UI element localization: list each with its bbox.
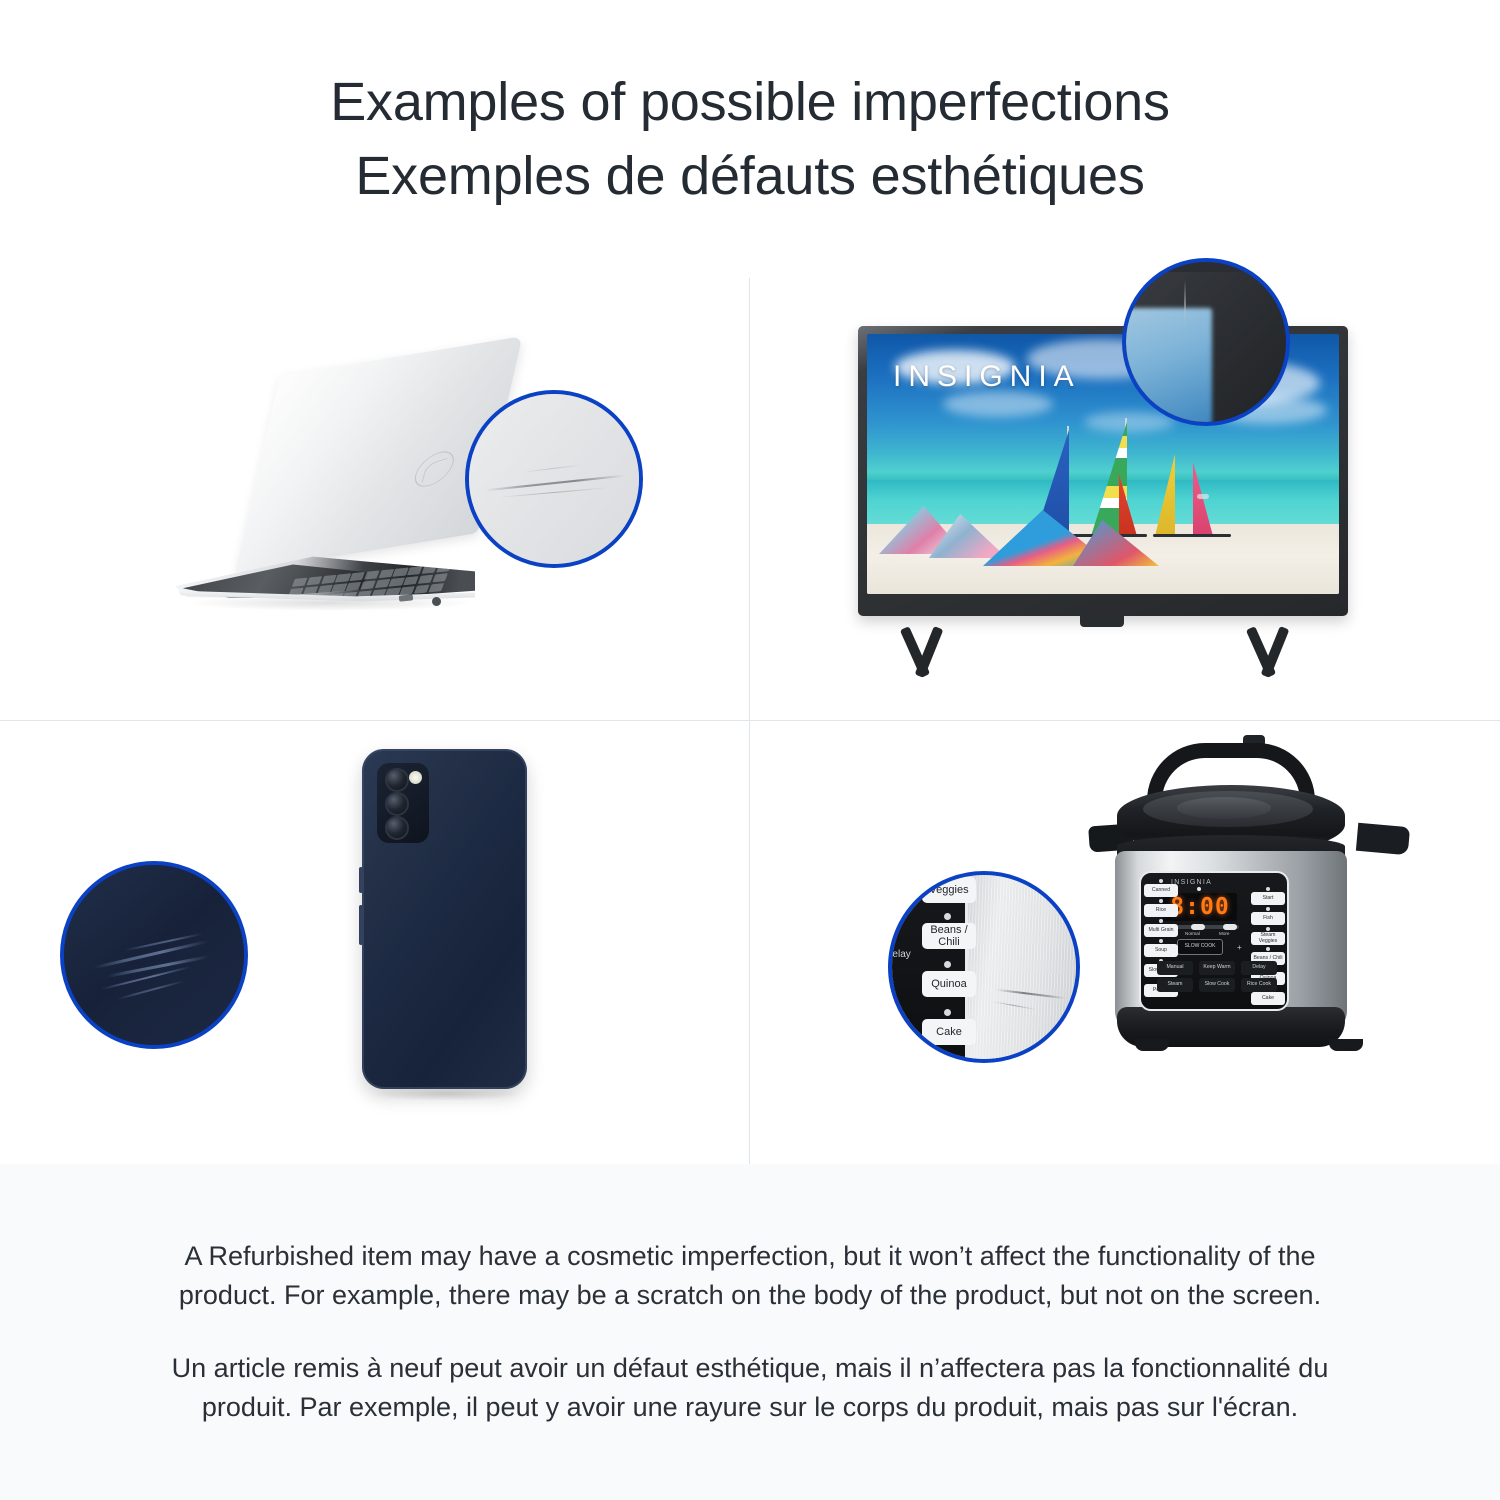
magnifier-laptop-surface <box>465 390 643 568</box>
cooker-button[interactable]: Rice Cook <box>1241 978 1277 992</box>
footer-paragraph-english: A Refurbished item may have a cosmetic i… <box>170 1237 1330 1315</box>
cooker-display-value: 8:00 <box>1170 894 1229 920</box>
key-cap <box>346 582 362 592</box>
tv-brand-logo: INSIGNIA <box>893 360 1081 394</box>
key-cap <box>364 570 380 580</box>
distant-boat <box>1197 494 1209 499</box>
phone-volume-button <box>359 867 363 893</box>
button-led <box>1159 919 1163 923</box>
button-led <box>944 913 951 920</box>
panel-laptop <box>0 278 750 721</box>
slider-label-normal: Normal <box>1185 931 1200 936</box>
laptop-image <box>175 373 505 613</box>
cooker-button[interactable]: Cake <box>1251 992 1285 1005</box>
title-english: Examples of possible imperfections <box>330 65 1170 139</box>
key-cap <box>389 577 405 587</box>
key-cap <box>374 579 390 589</box>
page-title: Examples of possible imperfections Exemp… <box>0 0 1500 278</box>
cooker-button[interactable]: Rice <box>1144 904 1178 917</box>
cooker-button[interactable]: Canned <box>1144 884 1178 897</box>
dell-logo-icon <box>411 447 458 492</box>
cooker-button[interactable]: Multi Grain <box>1144 924 1178 937</box>
key-cap <box>432 573 448 583</box>
title-french: Exemples de défauts esthétiques <box>355 139 1144 213</box>
key-cap <box>306 576 322 586</box>
plus-icon[interactable]: + <box>1237 943 1242 952</box>
key-cap <box>403 576 419 586</box>
cooker-button[interactable]: Fish <box>1251 912 1285 925</box>
key-cap <box>302 586 318 596</box>
key-cap <box>414 584 430 594</box>
slider-label-more: More <box>1219 931 1229 936</box>
key-cap <box>360 580 376 590</box>
footer-paragraph-french: Un article remis à neuf peut avoir un dé… <box>170 1349 1330 1427</box>
panel-smartphone <box>0 721 750 1164</box>
button-led <box>1266 927 1270 931</box>
cooker-button[interactable]: Slow Cook <box>1199 978 1235 992</box>
key-cap <box>393 568 409 578</box>
key-cap <box>436 563 452 573</box>
magnifier-laptop-scratch <box>465 390 643 568</box>
cooker-bottom-button-row[interactable]: ManualKeep WarmDelaySteamSlow CookRice C… <box>1157 961 1277 992</box>
key-cap <box>317 585 333 595</box>
key-cap <box>378 569 394 579</box>
key-cap <box>407 566 423 576</box>
magnifier-tv-bezel <box>1122 258 1290 426</box>
button-led <box>1266 947 1270 951</box>
pressure-cooker-image: INSIGNIA 8:00 Less Normal More SLOW COOK… <box>1095 739 1405 1109</box>
magnifier-cooker-stainless-surface <box>968 871 1080 1063</box>
panel-television: INSIGNIA <box>750 278 1500 721</box>
smartphone-image <box>352 749 552 1139</box>
cooker-foot-right <box>1329 1039 1363 1051</box>
button-led <box>1159 879 1163 883</box>
key-cap <box>321 575 337 585</box>
key-cap <box>331 583 347 593</box>
tv-logo-nub <box>1080 616 1124 627</box>
cooker-button[interactable]: Steam Veggies <box>1251 932 1285 945</box>
camera-lens-icon <box>385 768 409 792</box>
panel-pressure-cooker: INSIGNIA 8:00 Less Normal More SLOW COOK… <box>750 721 1500 1164</box>
cooker-button[interactable]: Start <box>1251 892 1285 905</box>
magnifier-cooker-scratch: VeggiesBeans / ChiliQuinoaCake DelaySlow… <box>888 871 1080 1063</box>
camera-module-icon <box>377 763 429 843</box>
cooker-button[interactable]: Quinoa <box>922 971 976 997</box>
cooker-button[interactable]: Steam <box>1157 978 1193 992</box>
cooker-button[interactable]: Keep Warm <box>1199 961 1235 975</box>
cooker-mode-readout: SLOW COOK <box>1177 939 1223 955</box>
key-cap <box>421 565 437 575</box>
button-led <box>1159 899 1163 903</box>
button-led <box>1266 907 1270 911</box>
cooker-lid-grille <box>1177 797 1271 819</box>
cooker-button[interactable]: Slow Cook <box>888 1017 920 1039</box>
camera-lens-icon <box>385 792 409 816</box>
scratch-mark <box>1184 280 1186 328</box>
cooker-button[interactable]: Delay <box>1241 961 1277 975</box>
button-led <box>944 871 951 874</box>
camera-flash-icon <box>409 771 422 784</box>
key-cap <box>335 573 351 583</box>
cooker-foot-left <box>1135 1039 1169 1051</box>
cooker-button[interactable]: Cake <box>922 1019 976 1045</box>
key-cap <box>292 578 308 588</box>
button-led <box>1159 939 1163 943</box>
cooker-button[interactable]: Beans / Chili <box>922 923 976 949</box>
footer-description: A Refurbished item may have a cosmetic i… <box>0 1164 1500 1500</box>
laptop-audio-port-icon <box>432 597 442 607</box>
magnifier-phone-scratches <box>60 861 248 1049</box>
laptop-base <box>175 545 475 607</box>
camera-lens-icon <box>385 816 409 840</box>
examples-grid: INSIGNIA <box>0 278 1500 1164</box>
cooker-button[interactable]: Soup <box>1144 944 1178 957</box>
button-led <box>944 961 951 968</box>
cooker-button[interactable]: Veggies <box>922 877 976 903</box>
key-cap <box>418 574 434 584</box>
television-image: INSIGNIA <box>858 326 1368 656</box>
cooker-button[interactable]: Delay <box>888 949 920 960</box>
cooker-control-panel[interactable]: INSIGNIA 8:00 Less Normal More SLOW COOK… <box>1139 871 1289 1011</box>
refurbished-imperfections-infographic: Examples of possible imperfections Exemp… <box>0 0 1500 1500</box>
button-led <box>944 1009 951 1016</box>
laptop-usb-port-icon <box>399 594 414 601</box>
phone-power-button <box>359 905 363 945</box>
cooker-button[interactable]: Manual <box>1157 961 1193 975</box>
phone-body <box>362 749 527 1089</box>
cooker-indicator-led <box>1197 887 1201 891</box>
magnifier-tv-screen-edge <box>1122 308 1212 426</box>
key-cap <box>349 572 365 582</box>
button-led <box>1266 887 1270 891</box>
phone-shadow <box>372 1087 522 1101</box>
key-cap <box>428 583 444 593</box>
cooker-side-handle-right <box>1356 823 1410 855</box>
